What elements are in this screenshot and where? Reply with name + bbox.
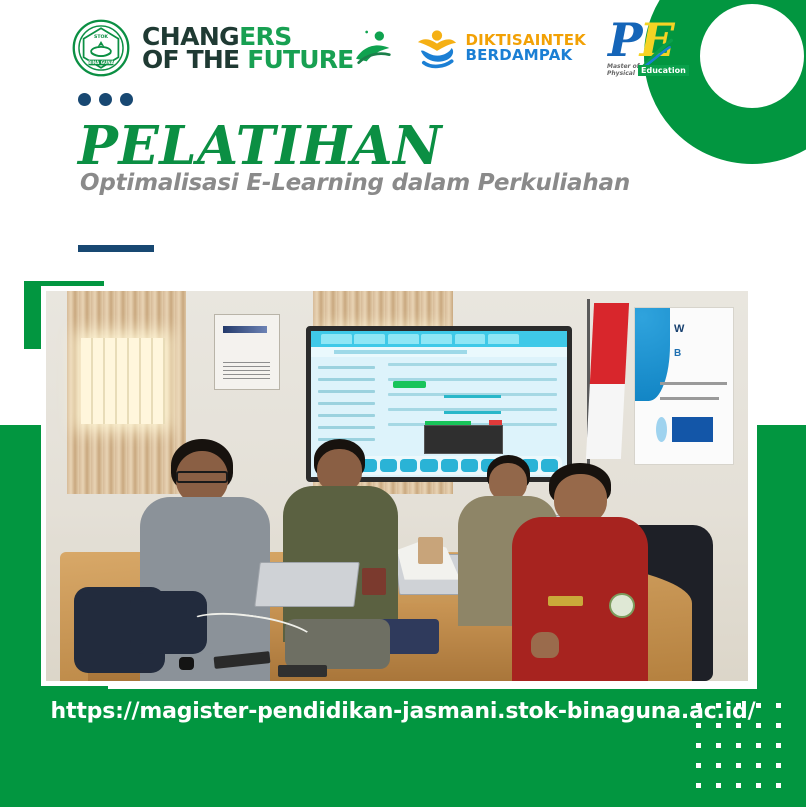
list-item (509, 463, 663, 681)
uniform-badge (609, 593, 635, 618)
grid-dot (776, 783, 781, 788)
grid-dot (756, 703, 761, 708)
list-item (278, 439, 418, 642)
master-of-physical-education-logo: PE Master of Physical Education (606, 17, 672, 79)
person-body (512, 517, 648, 681)
diktisaintek-line2: BERDAMPAK (465, 48, 586, 63)
svg-text:STOK: STOK (94, 34, 108, 40)
grid-dot (696, 723, 701, 728)
banner-box (672, 417, 713, 442)
power-adapter (278, 665, 327, 677)
changers-of-the-future-logo: CHANGERS OF THE FUTURE (142, 25, 393, 71)
display-browser-urlbar (311, 347, 568, 357)
grid-dot (776, 743, 781, 748)
grid-dot (736, 703, 741, 708)
form-field-line (318, 414, 374, 417)
grid-dot (756, 783, 761, 788)
dot-grid-decoration (688, 695, 788, 795)
eyeglasses-icon (176, 471, 229, 483)
grid-dot (736, 743, 741, 748)
runner-figure-icon (351, 28, 393, 68)
banner-graphic (635, 308, 670, 402)
svg-text:BINA GUNA: BINA GUNA (88, 60, 115, 65)
uniform-embroidery (548, 596, 583, 606)
thumbs-up-hand (531, 632, 558, 658)
logo-row: STOK BINA GUNA CHANGERS OF THE FUTURE (72, 12, 672, 84)
display-record-badge (489, 420, 501, 425)
title-underline-rule (78, 245, 154, 252)
green-accent-block-right (757, 425, 806, 690)
event-photo: W B (46, 291, 748, 681)
browser-tab (455, 334, 486, 344)
changers-line2-green: FUTURE (247, 45, 353, 74)
form-field-line (318, 402, 374, 405)
grid-dot (716, 763, 721, 768)
dot-2 (99, 93, 112, 106)
grid-dot (756, 743, 761, 748)
grid-dot (736, 723, 741, 728)
display-link (444, 411, 500, 414)
browser-tab (488, 334, 519, 344)
grid-dot (776, 723, 781, 728)
display-link (444, 395, 500, 398)
grid-dot (736, 763, 741, 768)
laptop-near (254, 562, 360, 607)
grid-dot (696, 763, 701, 768)
page-subtitle: Optimalisasi E-Learning dalam Perkuliaha… (80, 170, 630, 196)
grid-dot (696, 703, 701, 708)
display-video-thumbnail (424, 425, 503, 453)
diktisaintek-figure-icon (415, 26, 459, 70)
banner-subhead: B (674, 348, 681, 359)
diktisaintek-berdampak-logo: DIKTISAINTEK BERDAMPAK (415, 26, 586, 70)
form-field-line (318, 366, 374, 369)
banner-text-line-2 (660, 397, 719, 400)
grid-dot (756, 723, 761, 728)
banner-headline: W (674, 323, 684, 335)
browser-tab (321, 334, 352, 344)
dock-icon (420, 459, 437, 473)
grid-dot (716, 783, 721, 788)
drink-cup-far (418, 537, 443, 564)
grid-dot (716, 703, 721, 708)
grid-dot (696, 743, 701, 748)
drink-cup-near (362, 568, 387, 595)
person-head (554, 474, 607, 524)
wall-poster (214, 314, 279, 390)
browser-tab (421, 334, 452, 344)
grid-dot (716, 743, 721, 748)
form-field-line (318, 390, 374, 393)
poster-canvas: STOK BINA GUNA CHANGERS OF THE FUTURE (0, 0, 806, 807)
website-url[interactable]: https://magister-pendidikan-jasmani.stok… (0, 699, 806, 724)
banner-text-line-1 (660, 382, 727, 385)
stok-bina-guna-logo: STOK BINA GUNA (72, 19, 130, 77)
pe-small-line2: Physical (607, 70, 635, 77)
display-form-sidebar (318, 366, 374, 451)
changers-line2-dark: OF THE (142, 45, 247, 74)
window-left (81, 338, 165, 424)
grid-dot (776, 703, 781, 708)
wristwatch (179, 657, 193, 670)
form-field-line (318, 378, 374, 381)
three-dots-decoration (78, 93, 133, 106)
form-field-line (388, 363, 557, 366)
pe-education-tag: Education (638, 65, 689, 76)
display-progress-bar (425, 421, 471, 425)
pe-letter-p: P (608, 13, 640, 67)
grid-dot (756, 763, 761, 768)
grid-dot (776, 763, 781, 768)
grid-dot (716, 723, 721, 728)
banner-dot (656, 417, 667, 442)
browser-tab (388, 334, 419, 344)
photo-frame: W B (41, 286, 753, 686)
standing-banner: W B (634, 307, 734, 465)
page-title: PELATIHAN (78, 120, 442, 173)
dot-1 (78, 93, 91, 106)
dot-3 (120, 93, 133, 106)
display-browser-tabbar (311, 331, 568, 347)
display-primary-button (393, 381, 426, 388)
form-field-line (318, 426, 374, 429)
grid-dot (736, 783, 741, 788)
browser-tab (354, 334, 385, 344)
grid-dot (696, 783, 701, 788)
